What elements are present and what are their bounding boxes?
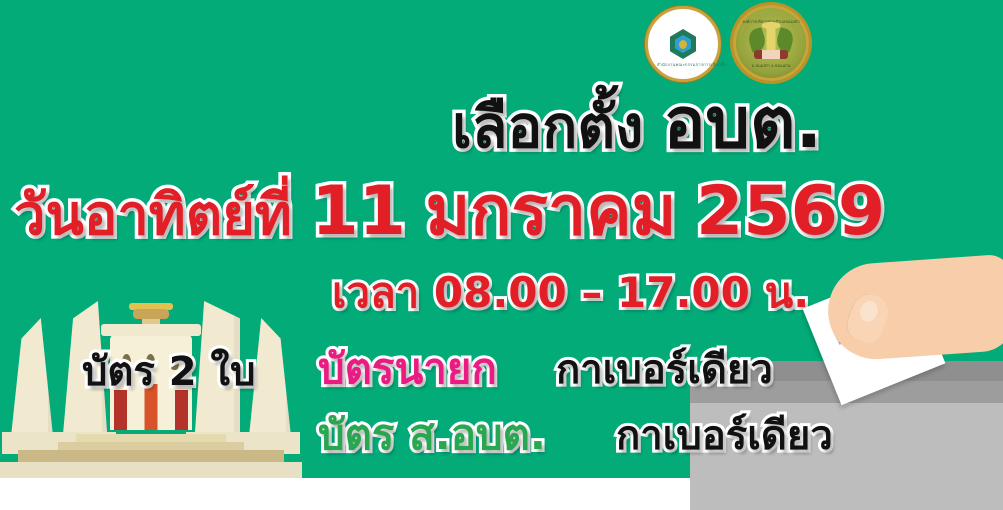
election-banner: สำนักงานคณะกรรมการการเลือกตั้ง องค์การบร… xyxy=(0,0,1003,510)
headline-prefix: เลือกตั้ง xyxy=(452,98,643,156)
seal-pillar-icon xyxy=(767,27,776,51)
handshake-icon xyxy=(754,50,788,59)
council-ballot-instruction: กาเบอร์เดียว xyxy=(616,416,833,456)
thumbnail-icon xyxy=(857,299,880,325)
date-day-number: 11 xyxy=(311,178,406,246)
seal-inner: องค์การบริหารส่วนตำบลหนองบัว อ.หนองบัว จ… xyxy=(741,13,801,73)
seal-bottom-text: อ.หนองบัว จ.ขอนแก่น xyxy=(741,62,801,69)
time-dash: – xyxy=(581,272,602,314)
monument-door xyxy=(175,390,188,430)
headline-main: อบต. xyxy=(664,88,823,158)
election-date-line: วันอาทิตย์ที่ 11 มกราคม 2569 xyxy=(14,178,885,246)
date-day-label: วันอาทิตย์ที่ xyxy=(14,188,292,244)
hand-casting-ballot-illustration: กกต xyxy=(818,252,1003,412)
page-title: เลือกตั้ง อบต. xyxy=(452,88,822,158)
date-year: 2569 xyxy=(696,178,885,246)
monument-wing-left-outer xyxy=(10,318,54,446)
monument-finial-bowl xyxy=(133,309,169,319)
time-start: 08.00 xyxy=(434,272,567,314)
monument-door xyxy=(114,390,127,430)
seal-hex-emblem xyxy=(670,29,696,59)
mayor-ballot-label: บัตรนายก xyxy=(318,348,497,390)
time-label: เวลา xyxy=(332,272,419,314)
election-commission-seal-icon: สำนักงานคณะกรรมการการเลือกตั้ง xyxy=(645,6,721,82)
monument-ground xyxy=(0,462,302,478)
seal-ring-text: สำนักงานคณะกรรมการการเลือกตั้ง xyxy=(657,61,709,68)
election-time-line: เวลา 08.00 – 17.00 น. xyxy=(332,272,809,314)
date-month: มกราคม xyxy=(425,178,676,246)
local-administration-seal-icon: องค์การบริหารส่วนตำบลหนองบัว อ.หนองบัว จ… xyxy=(730,2,812,84)
council-ballot-label: บัตร ส.อบต. xyxy=(318,414,546,456)
ballot-count-label: บัตร 2 ใบ xyxy=(82,352,255,392)
monument-tower-cap xyxy=(101,324,201,336)
mayor-ballot-instruction: กาเบอร์เดียว xyxy=(556,350,773,390)
time-end: 17.00 xyxy=(617,272,750,314)
seal-inner: สำนักงานคณะกรรมการการเลือกตั้ง xyxy=(657,18,709,70)
